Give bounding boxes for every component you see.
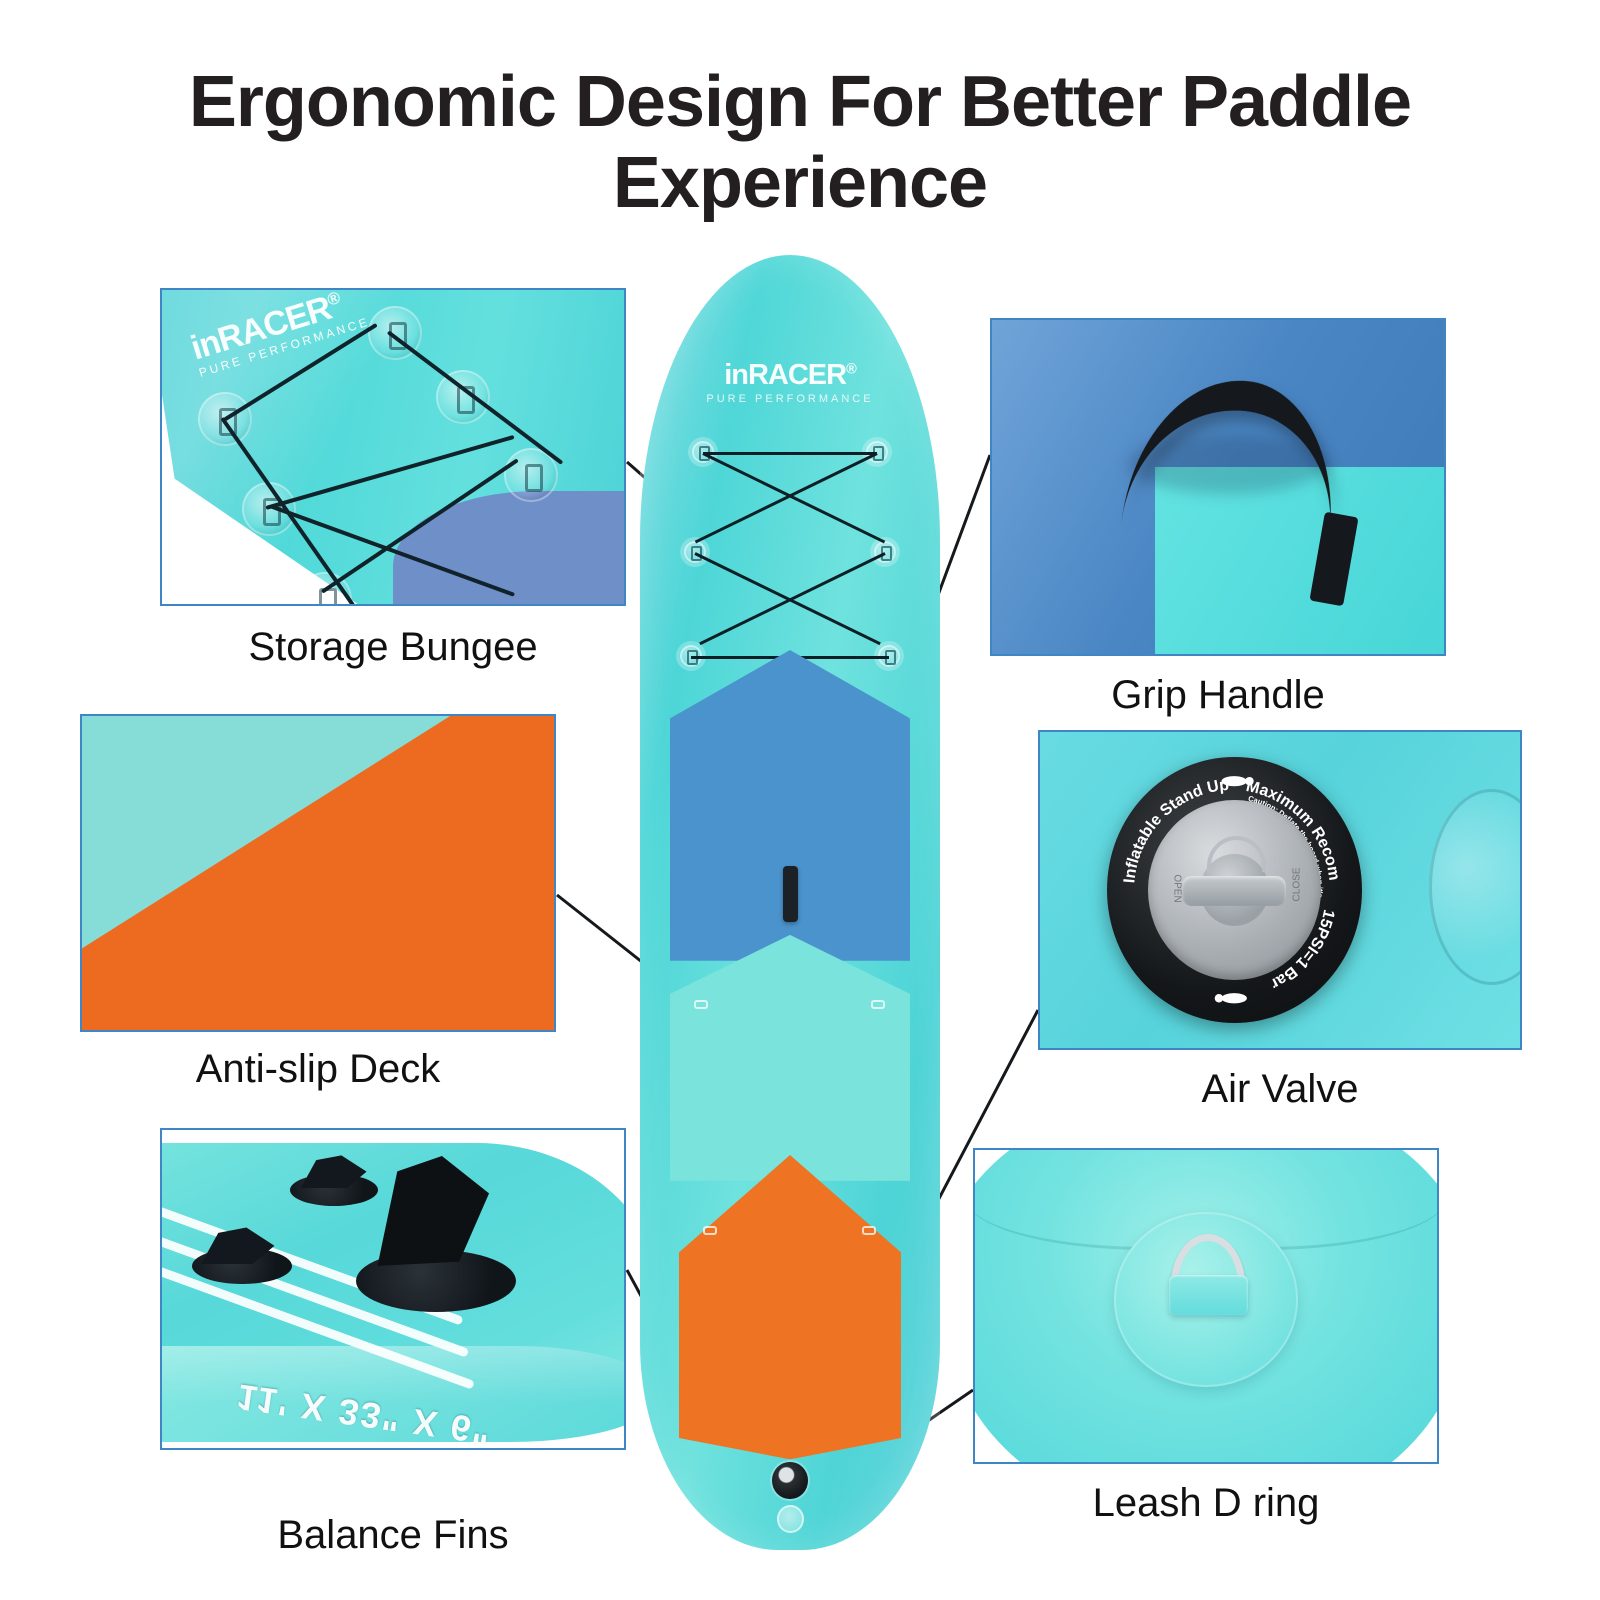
d-ring-mount (1169, 1275, 1248, 1316)
d-ring-icon (862, 1226, 876, 1235)
caption-air-valve: Air Valve (1038, 1066, 1522, 1112)
panel-storage-bungee[interactable]: inRACER® PURE PERFORMANCE (160, 288, 626, 606)
valve-cap[interactable]: OPEN CLOSE (1148, 800, 1321, 980)
valve-open-label: OPEN (1172, 874, 1183, 902)
infographic-canvas: Ergonomic Design For Better Paddle Exper… (0, 0, 1600, 1600)
brand-name: inRACER® (640, 359, 940, 392)
bungee-cord-icon (703, 452, 877, 455)
paddle-board-main-image[interactable]: inRACER® PURE PERFORMANCE (640, 255, 940, 1550)
brand-tagline: PURE PERFORMANCE (640, 393, 940, 405)
valve-close-label: CLOSE (1292, 868, 1303, 902)
d-ring-icon[interactable] (777, 1505, 804, 1533)
panel-anti-slip-deck[interactable] (80, 714, 556, 1032)
caption-grip-handle: Grip Handle (990, 672, 1446, 718)
air-valve-icon: Inflatable Stand Up Paddle Board Maximum… (1107, 757, 1361, 1022)
caption-leash-d-ring: Leash D ring (973, 1480, 1439, 1526)
caption-anti-slip-deck: Anti-slip Deck (80, 1046, 556, 1092)
page-title: Ergonomic Design For Better Paddle Exper… (120, 62, 1480, 225)
panel-leash-d-ring[interactable] (973, 1148, 1439, 1464)
valve-pin-icon (1207, 836, 1266, 872)
panel-balance-fins[interactable]: 11' X 33" X 6" (160, 1128, 626, 1450)
panel-air-valve[interactable]: Inflatable Stand Up Paddle Board Maximum… (1038, 730, 1522, 1050)
d-ring-icon (694, 1000, 708, 1009)
brand-logo-board: inRACER® PURE PERFORMANCE (640, 359, 940, 405)
d-ring-icon (874, 541, 896, 563)
d-ring-icon (436, 370, 490, 424)
valve-turn-bar[interactable] (1182, 876, 1286, 907)
d-ring-icon (871, 1000, 885, 1009)
caption-storage-bungee: Storage Bungee (160, 624, 626, 670)
d-ring-icon (703, 1226, 717, 1235)
grip-handle-icon (783, 866, 798, 922)
panel-grip-handle[interactable] (990, 318, 1446, 656)
